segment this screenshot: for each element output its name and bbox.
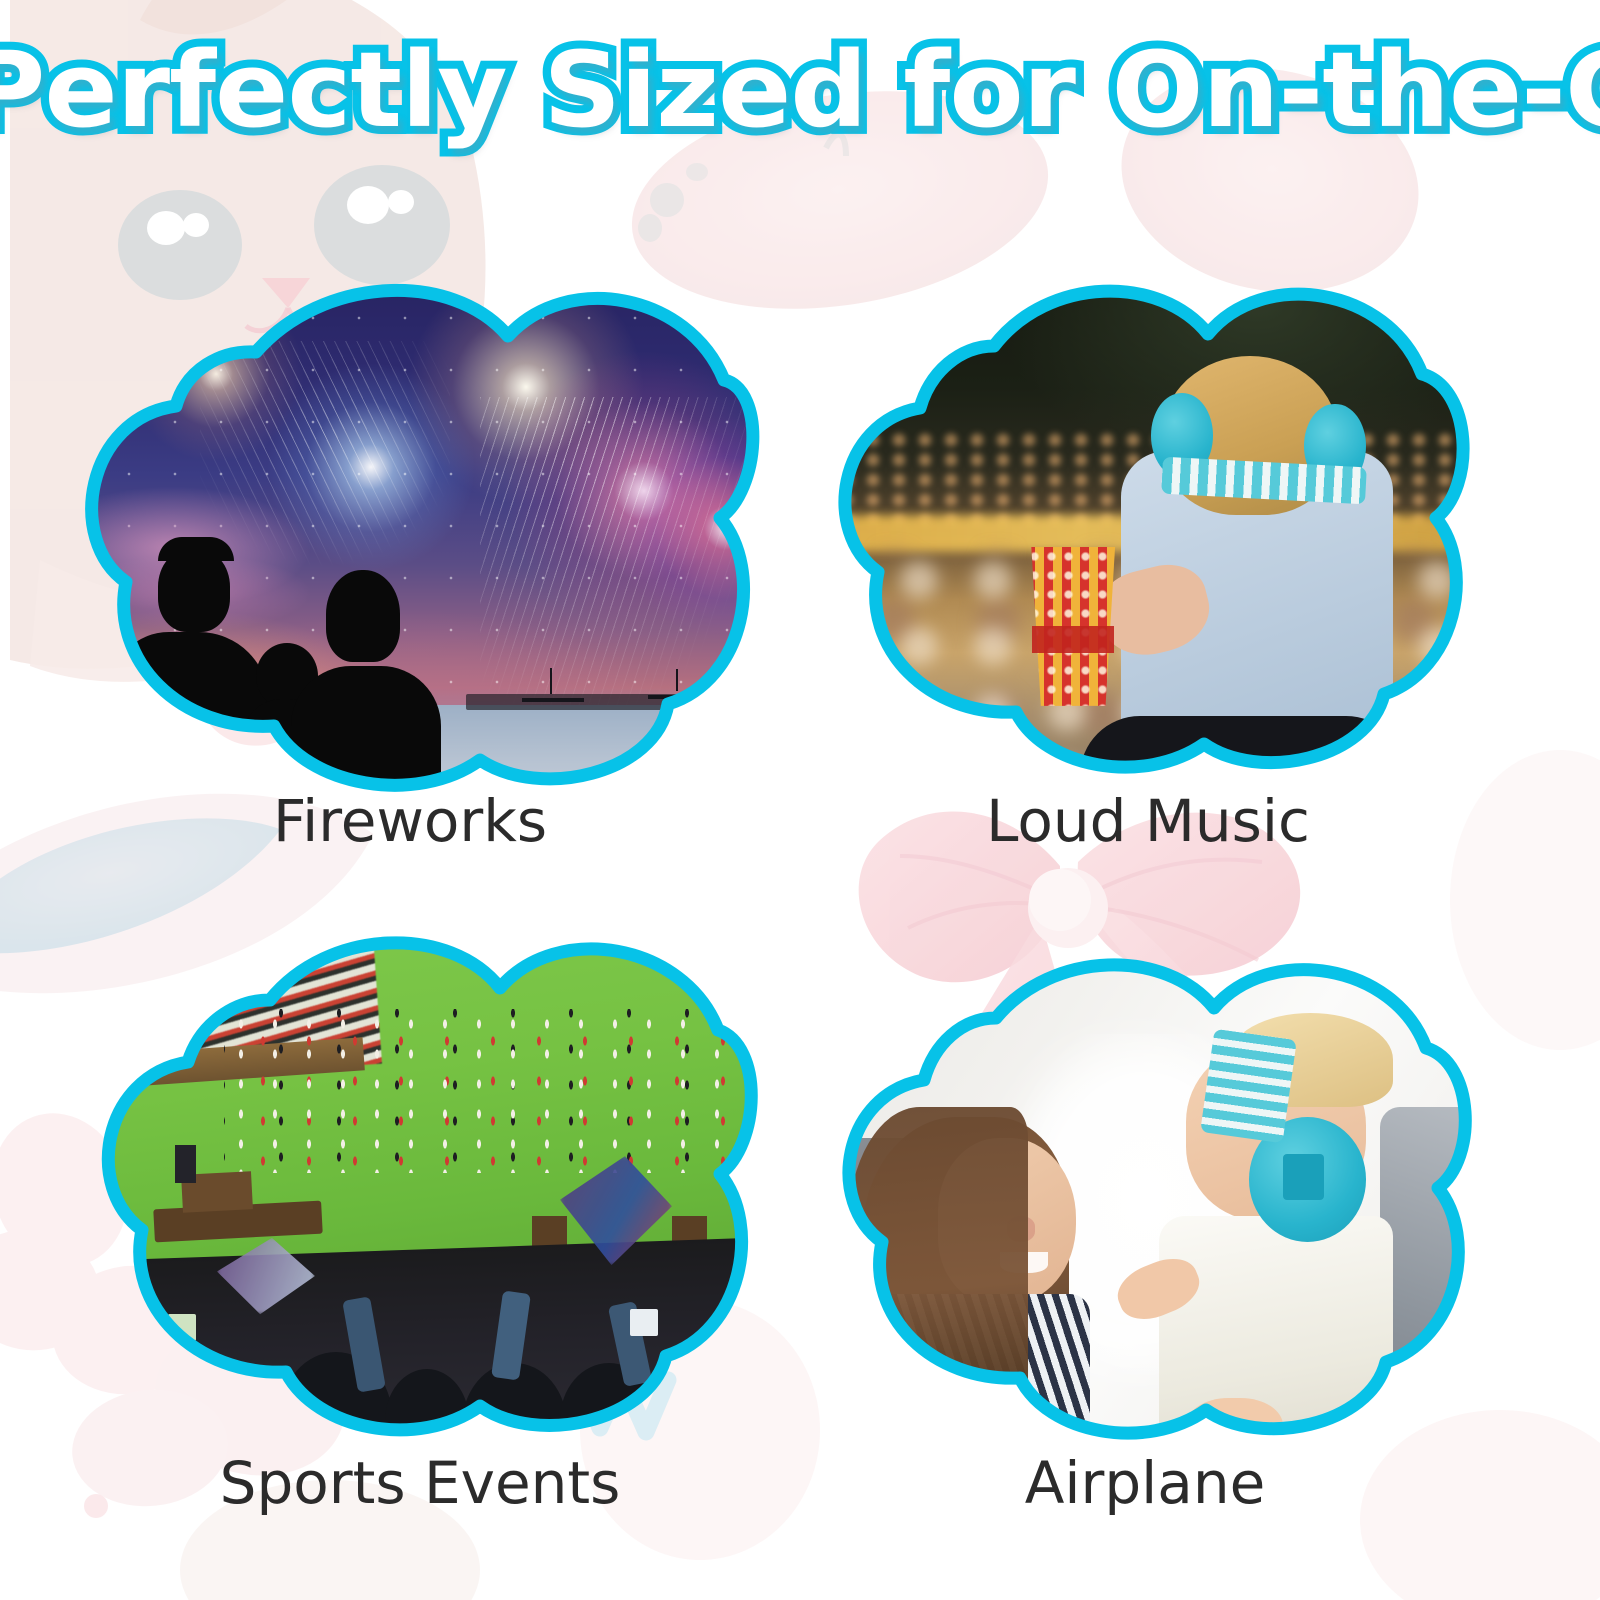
cloud-frame (60, 240, 760, 800)
card-fireworks[interactable] (60, 240, 760, 800)
card-airplane[interactable] (800, 930, 1490, 1450)
infographic-canvas: Perfectly Sized for On-the-Go (0, 0, 1600, 1600)
cloud-frame (70, 900, 770, 1445)
cloud-frame (808, 250, 1488, 780)
caption-sports-events: Sports Events (70, 1452, 770, 1514)
page-title-text: Perfectly Sized for On-the-Go (0, 38, 1600, 142)
caption-fireworks: Fireworks (60, 790, 760, 852)
cloud-shape (808, 250, 1488, 780)
card-loud-music[interactable] (808, 250, 1488, 780)
cloud-frame (800, 930, 1490, 1450)
caption-loud-music: Loud Music (808, 790, 1488, 852)
cloud-shape (60, 240, 760, 800)
card-sports-events[interactable] (70, 900, 770, 1445)
caption-airplane: Airplane (800, 1452, 1490, 1514)
page-title: Perfectly Sized for On-the-Go (0, 38, 1600, 142)
cloud-shape (800, 930, 1490, 1450)
cloud-shape (70, 900, 770, 1445)
photo-fireworks (60, 240, 760, 800)
